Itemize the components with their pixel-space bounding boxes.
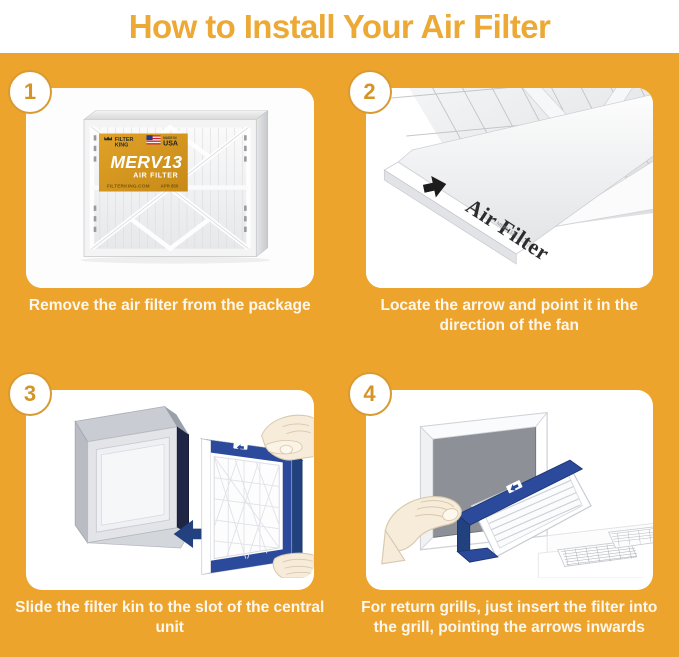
step-1-image-card: FILTER KING MADE IN (26, 88, 314, 288)
svg-text:USA: USA (163, 140, 178, 147)
slide-filter-illustration (26, 390, 314, 590)
return-grill-insert-illustration (366, 390, 654, 590)
step-caption-3: Slide the filter kin to the slot of the … (14, 598, 326, 638)
step-number-badge-1: 1 (8, 70, 52, 114)
usa-flag-icon (146, 135, 160, 144)
step-2-artwork: Air Filter MERV 13 (366, 88, 654, 288)
step-1-artwork: FILTER KING MADE IN (26, 88, 314, 288)
svg-text:AIR FILTER: AIR FILTER (133, 172, 178, 179)
step-3-image-card (26, 390, 314, 590)
svg-text:MERV13: MERV13 (110, 152, 182, 172)
step-2-image-card: Air Filter MERV 13 (366, 88, 654, 288)
page-title: How to Install Your Air Filter (129, 10, 550, 43)
step-number-badge-3: 3 (8, 372, 52, 416)
step-card-2: Air Filter MERV 13 2 Locate the arrow an… (340, 53, 679, 355)
step-4-image-card (366, 390, 654, 590)
svg-text:FILTERKING.COM: FILTERKING.COM (107, 184, 150, 190)
step-number-badge-2: 2 (348, 70, 392, 114)
filter-corner-arrow-illustration: Air Filter MERV 13 (366, 88, 654, 288)
air-filter-product-illustration: FILTER KING MADE IN (26, 88, 314, 288)
step-caption-4: For return grills, just insert the filte… (354, 598, 666, 638)
svg-text:APR 850: APR 850 (161, 184, 179, 189)
step-card-3: 3 Slide the filter kin to the slot of th… (0, 355, 340, 657)
step-caption-1: Remove the air filter from the package (14, 296, 326, 316)
step-caption-2: Locate the arrow and point it in the dir… (354, 296, 666, 336)
step-3-artwork (26, 390, 314, 590)
svg-text:KING: KING (115, 143, 129, 149)
infographic-root: How to Install Your Air Filter (0, 0, 679, 657)
step-card-4: 4 For return grills, just insert the fil… (340, 355, 679, 657)
step-number-badge-4: 4 (348, 372, 392, 416)
hand-bottom-illustration (273, 553, 313, 578)
step-card-1: FILTER KING MADE IN (0, 53, 340, 355)
steps-grid: FILTER KING MADE IN (0, 53, 679, 657)
header: How to Install Your Air Filter (0, 0, 679, 53)
step-4-artwork (366, 390, 654, 590)
